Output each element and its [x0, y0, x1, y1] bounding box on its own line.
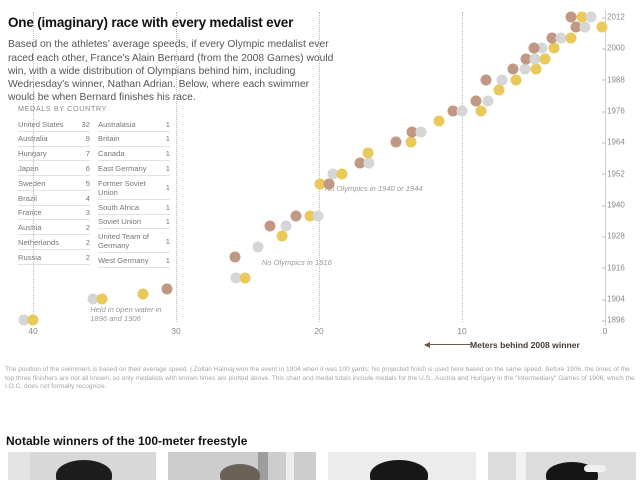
medalist-dot-gold[interactable] — [96, 294, 107, 305]
race-scatter-chart: Meters behind 2008 winner 18961904191619… — [0, 0, 640, 360]
year-axis-tick: 1896 — [607, 316, 625, 325]
medalist-dot-gold[interactable] — [531, 64, 542, 75]
x-axis-label: Meters behind 2008 winner — [470, 340, 580, 350]
medalist-dot-gold[interactable] — [336, 168, 347, 179]
meters-axis-tick: 20 — [314, 326, 323, 336]
medalist-dot-gold[interactable] — [597, 22, 608, 33]
year-axis-tick: 1976 — [607, 107, 625, 116]
year-axis-tick: 1928 — [607, 232, 625, 241]
medalist-dot-bronze[interactable] — [528, 43, 539, 54]
photo-thumbnail[interactable] — [168, 452, 316, 480]
chart-annotation: No Olympics in 1916 — [262, 258, 332, 268]
medalist-dot-bronze[interactable] — [471, 95, 482, 106]
chart-annotation: No Olympics in 1940 or 1944 — [325, 184, 423, 194]
photo-thumbnail[interactable] — [488, 452, 636, 480]
chart-gridline — [319, 12, 320, 322]
medalist-dot-silver[interactable] — [252, 241, 263, 252]
medalist-dot-silver[interactable] — [457, 106, 468, 117]
medalist-dot-silver[interactable] — [482, 95, 493, 106]
chart-gridline — [462, 12, 463, 322]
medalist-dot-bronze[interactable] — [162, 283, 173, 294]
medalist-dot-bronze[interactable] — [229, 252, 240, 263]
medalist-dot-silver[interactable] — [579, 22, 590, 33]
medalist-dot-silver[interactable] — [497, 74, 508, 85]
medalist-dot-bronze[interactable] — [508, 64, 519, 75]
meters-axis-tick: 10 — [457, 326, 466, 336]
medalist-dot-silver[interactable] — [519, 64, 530, 75]
medalist-dot-silver[interactable] — [585, 12, 596, 23]
medalist-dot-silver[interactable] — [281, 220, 292, 231]
chart-gridline — [33, 12, 34, 322]
year-axis-tick: 2012 — [607, 13, 625, 22]
infographic-page: One (imaginary) race with every medalist… — [0, 0, 640, 480]
meters-axis-tick: 0 — [603, 326, 608, 336]
medalist-dot-gold[interactable] — [434, 116, 445, 127]
medalist-dot-silver[interactable] — [415, 126, 426, 137]
meters-axis-tick: 30 — [171, 326, 180, 336]
medalist-dot-gold[interactable] — [362, 147, 373, 158]
medalist-dot-gold[interactable] — [475, 106, 486, 117]
year-axis-tick: 1964 — [607, 138, 625, 147]
year-axis-tick: 1916 — [607, 263, 625, 272]
medalist-dot-bronze[interactable] — [481, 74, 492, 85]
x-axis-arrow-icon — [425, 344, 471, 345]
section-title: Notable winners of the 100-meter freesty… — [6, 434, 247, 448]
medalist-dot-gold[interactable] — [539, 53, 550, 64]
chart-gridline — [176, 12, 177, 322]
medalist-dot-silver[interactable] — [312, 210, 323, 221]
medalist-dot-gold[interactable] — [405, 137, 416, 148]
medalist-dot-gold[interactable] — [565, 32, 576, 43]
medalist-dot-bronze[interactable] — [565, 12, 576, 23]
medalist-dot-gold[interactable] — [28, 315, 39, 326]
medalist-dot-gold[interactable] — [138, 288, 149, 299]
medalist-dot-gold[interactable] — [494, 85, 505, 96]
medalist-dot-silver[interactable] — [364, 158, 375, 169]
photo-thumbnail[interactable] — [8, 452, 156, 480]
medalist-dot-bronze[interactable] — [265, 220, 276, 231]
chart-footnote: The position of the swimmers is based on… — [5, 366, 635, 392]
year-axis-tick: 2000 — [607, 44, 625, 53]
medalist-dot-gold[interactable] — [548, 43, 559, 54]
year-axis-tick: 1904 — [607, 295, 625, 304]
meters-axis-tick: 40 — [28, 326, 37, 336]
medalist-dot-bronze[interactable] — [391, 137, 402, 148]
medalist-dot-gold[interactable] — [276, 231, 287, 242]
chart-annotation: Held in open water in 1896 and 1906 — [90, 305, 170, 324]
year-axis-tick: 1952 — [607, 169, 625, 178]
year-axis-line — [605, 10, 606, 326]
year-axis-tick: 1940 — [607, 201, 625, 210]
medalist-dot-gold[interactable] — [511, 74, 522, 85]
medalist-dot-gold[interactable] — [239, 273, 250, 284]
medalist-dot-bronze[interactable] — [291, 210, 302, 221]
photo-strip — [8, 452, 636, 480]
year-axis-tick: 1988 — [607, 75, 625, 84]
photo-thumbnail[interactable] — [328, 452, 476, 480]
